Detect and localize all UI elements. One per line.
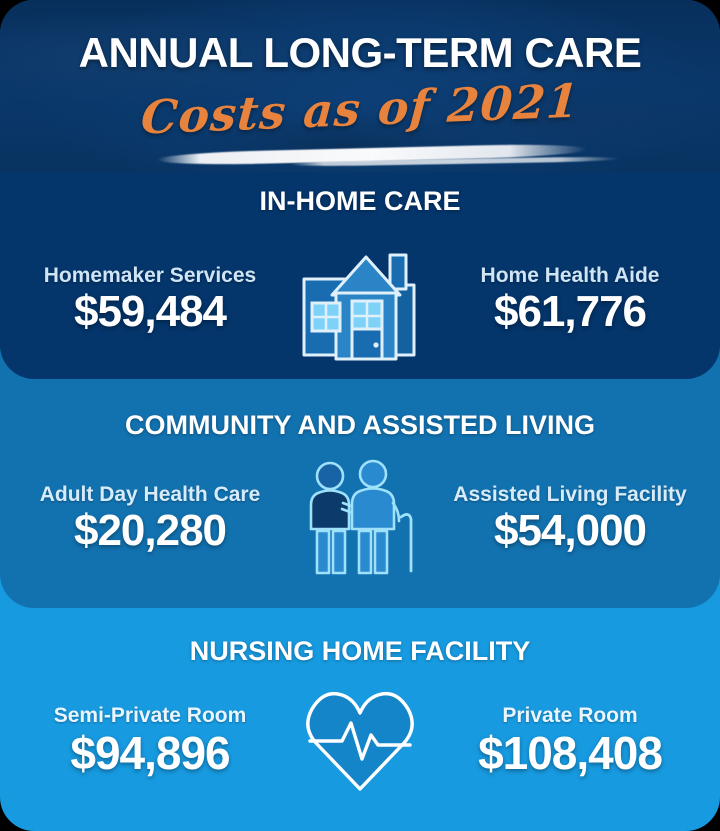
- section-row-nursing: Semi-Private Room $94,896 Private Room $…: [10, 685, 710, 797]
- stat-value: $54,000: [430, 508, 710, 554]
- stat-label: Adult Day Health Care: [10, 483, 290, 506]
- stat-label: Private Room: [430, 704, 710, 727]
- section-community-assisted-living: COMMUNITY AND ASSISTED LIVING Adult Day …: [0, 410, 720, 579]
- stat-private-room: Private Room $108,408: [430, 704, 710, 777]
- section-heading-in-home: IN-HOME CARE: [0, 186, 720, 217]
- stat-label: Semi-Private Room: [10, 704, 290, 727]
- stat-value: $61,776: [430, 289, 710, 335]
- stat-label: Homemaker Services: [10, 264, 290, 287]
- infographic-poster: ANNUAL LONG-TERM CARE Costs as of 2021 I…: [0, 0, 720, 831]
- heart-pulse-icon: [290, 685, 430, 797]
- section-row-in-home: Homemaker Services $59,484: [10, 237, 710, 363]
- caregiver-and-elderly-icon: [290, 459, 430, 579]
- stat-homemaker-services: Homemaker Services $59,484: [10, 264, 290, 335]
- stat-value: $108,408: [430, 729, 710, 777]
- stat-assisted-living-facility: Assisted Living Facility $54,000: [430, 483, 710, 554]
- stat-value: $94,896: [10, 729, 290, 777]
- section-heading-nursing: NURSING HOME FACILITY: [0, 636, 720, 667]
- stat-label: Assisted Living Facility: [430, 483, 710, 506]
- house-icon: [290, 237, 430, 363]
- stat-value: $59,484: [10, 289, 290, 335]
- stat-label: Home Health Aide: [430, 264, 710, 287]
- section-row-community: Adult Day Health Care $20,280: [10, 459, 710, 579]
- stat-adult-day-health-care: Adult Day Health Care $20,280: [10, 483, 290, 554]
- stat-semi-private-room: Semi-Private Room $94,896: [10, 704, 290, 777]
- section-heading-community: COMMUNITY AND ASSISTED LIVING: [0, 410, 720, 441]
- page-subtitle-wrap: Costs as of 2021: [0, 82, 720, 136]
- section-nursing-home-facility: NURSING HOME FACILITY Semi-Private Room …: [0, 636, 720, 797]
- page-subtitle: Costs as of 2021: [139, 73, 581, 144]
- stat-value: $20,280: [10, 508, 290, 554]
- stat-home-health-aide: Home Health Aide $61,776: [430, 264, 710, 335]
- page-title: ANNUAL LONG-TERM CARE: [0, 32, 720, 74]
- section-in-home-care: IN-HOME CARE Homemaker Services $59,484: [0, 186, 720, 363]
